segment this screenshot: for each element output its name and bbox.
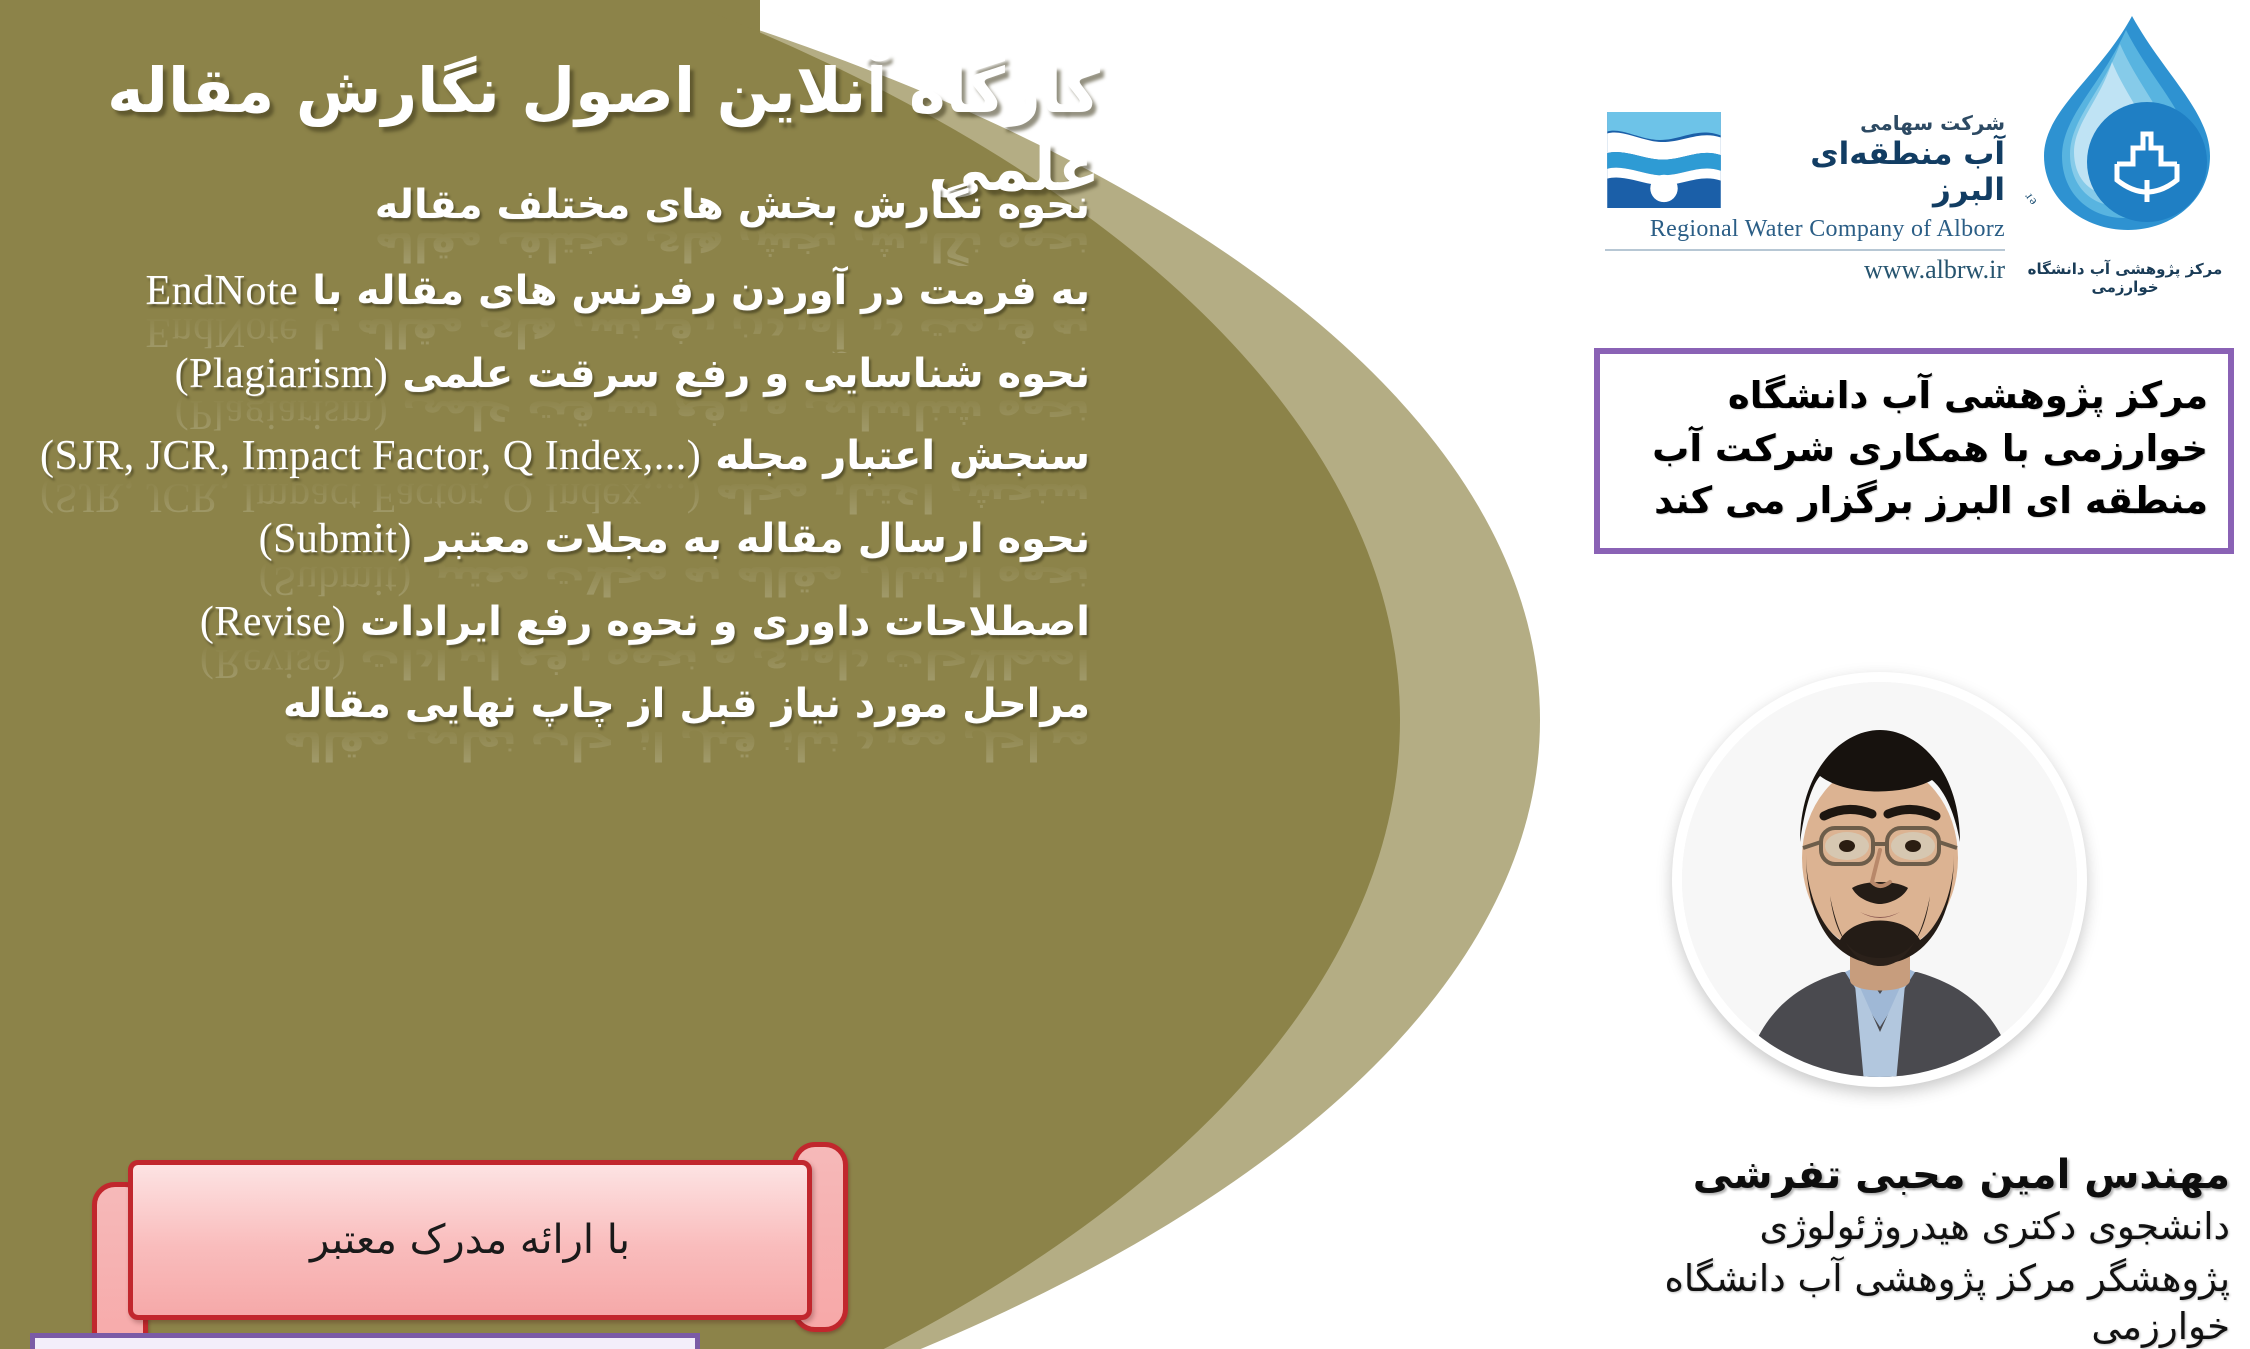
alborz-logo-english-line: Regional Water Company of Alborz [1605, 216, 2005, 243]
speaker-portrait [1672, 672, 2087, 1087]
list-item: مراحل مورد نیاز قبل از چاپ نهایی مقاله م… [30, 684, 1090, 725]
speaker-affiliation: پژوهشگر مرکز پژوهشی آب دانشگاه خوارزمی [1570, 1255, 2230, 1349]
topic-text: سنجش اعتبار مجله [715, 433, 1090, 479]
topic-text: نحوه نگارش بخش های مختلف مقاله [375, 182, 1090, 228]
text-reflection: به فرمت در آوردن رفرنس های مقاله با EndN… [30, 313, 1090, 353]
topics-list: نحوه نگارش بخش های مختلف مقاله نحوه نگار… [30, 185, 1090, 765]
topic-text: نحوه شناسایی و رفع سرقت علمی [402, 395, 1090, 435]
khwarazmi-water-research-center-logo: Khwarazmi Water Research Center مرکز پژو… [2010, 4, 2240, 296]
water-wave-logo-icon [1605, 110, 1723, 210]
left-content-column: کارگاه آنلاین اصول نگارش مقاله علمی نحوه… [0, 0, 1120, 1349]
poster-root: کارگاه آنلاین اصول نگارش مقاله علمی نحوه… [0, 0, 2250, 1349]
khwarazmi-arc-text: Khwarazmi Water Research Center [2014, 4, 2039, 209]
speaker-info: مهندس امین محبی تفرشی دانشجوی دکتری هیدر… [1570, 1152, 2230, 1349]
topic-text: مراحل مورد نیاز قبل از چاپ نهایی مقاله [283, 681, 1090, 727]
certificate-box: با ارائه مدرک معتبر [128, 1160, 812, 1320]
topic-text: اصطلاحات داوری و نحوه رفع ایرادات [360, 644, 1090, 684]
text-reflection: مراحل مورد نیاز قبل از چاپ نهایی مقاله [30, 725, 1090, 765]
topic-latin-term: (Revise) [200, 601, 346, 644]
alborz-water-company-logo: شرکت سهامی آب منطقه‌ای البرز [1605, 110, 2005, 285]
topic-latin-term: (Plagiarism) [175, 395, 389, 435]
topic-text: نحوه نگارش بخش های مختلف مقاله [375, 226, 1090, 266]
divider [1605, 249, 2005, 251]
topic-latin-term: (Revise) [200, 644, 346, 684]
topic-latin-term: EndNote [146, 313, 299, 353]
list-item: نحوه نگارش بخش های مختلف مقاله نحوه نگار… [30, 185, 1090, 226]
svg-text:Khwarazmi Water Research Cente: Khwarazmi Water Research Center [2014, 4, 2039, 209]
topic-text: اصطلاحات داوری و نحوه رفع ایرادات [360, 599, 1090, 645]
announcement-line: خوارزمی با همکاری شرکت آب [1620, 423, 2208, 476]
certificate-note: با ارائه مدرک معتبر [310, 1217, 630, 1263]
announcement-line: مرکز پژوهشی آب دانشگاه [1620, 370, 2208, 423]
text-reflection: نحوه شناسایی و رفع سرقت علمی (Plagiarism… [30, 395, 1090, 435]
topic-text: نحوه ارسال مقاله به مجلات معتبر [426, 561, 1090, 601]
topic-latin-term: (Submit) [259, 518, 412, 561]
right-content-column: شرکت سهامی آب منطقه‌ای البرز [1550, 0, 2250, 1349]
list-item: سنجش اعتبار مجله (SJR, JCR, Impact Facto… [30, 435, 1090, 478]
list-item: نحوه شناسایی و رفع سرقت علمی (Plagiarism… [30, 353, 1090, 396]
alborz-website-url[interactable]: www.albrw.ir [1605, 255, 2005, 285]
speaker-name: مهندس امین محبی تفرشی [1570, 1152, 2230, 1199]
list-item: به فرمت در آوردن رفرنس های مقاله با EndN… [30, 270, 1090, 313]
khwarazmi-logo-caption: مرکز پژوهشی آب دانشگاه خوارزمی [2010, 260, 2240, 296]
topic-latin-term: (Submit) [259, 561, 412, 601]
speaker-degree: دانشجوی دکتری هیدروژئولوژی [1570, 1203, 2230, 1251]
bottom-purple-panel-cutoff [30, 1333, 700, 1349]
alborz-logo-small-line: شرکت سهامی [1737, 112, 2005, 135]
topic-latin-term: (SJR, JCR, Impact Factor, Q Index,...) [40, 478, 701, 518]
topic-latin-term: (Plagiarism) [175, 353, 389, 396]
speaker-photo-illustration [1682, 682, 2077, 1077]
topic-text: به فرمت در آوردن رفرنس های مقاله با [312, 313, 1090, 353]
topic-latin-term: (SJR, JCR, Impact Factor, Q Index,...) [40, 435, 701, 478]
topic-latin-term: EndNote [146, 270, 299, 313]
list-item: اصطلاحات داوری و نحوه رفع ایرادات (Revis… [30, 601, 1090, 644]
certificate-banner: با ارائه مدرک معتبر [110, 1160, 830, 1335]
text-reflection: نحوه ارسال مقاله به مجلات معتبر (Submit) [30, 561, 1090, 601]
list-item: نحوه ارسال مقاله به مجلات معتبر (Submit)… [30, 518, 1090, 561]
water-droplet-logo-icon: Khwarazmi Water Research Center [2014, 4, 2236, 254]
text-reflection: نحوه نگارش بخش های مختلف مقاله [30, 226, 1090, 266]
topic-text: نحوه ارسال مقاله به مجلات معتبر [426, 516, 1090, 562]
topic-text: سنجش اعتبار مجله [715, 478, 1090, 518]
text-reflection: سنجش اعتبار مجله (SJR, JCR, Impact Facto… [30, 478, 1090, 518]
alborz-logo-main-line: آب منطقه‌ای البرز [1737, 137, 2005, 208]
topic-text: نحوه شناسایی و رفع سرقت علمی [402, 351, 1090, 397]
topic-text: به فرمت در آوردن رفرنس های مقاله با [312, 268, 1090, 314]
speaker-portrait-image [1682, 682, 2077, 1077]
announcement-box: مرکز پژوهشی آب دانشگاه خوارزمی با همکاری… [1594, 348, 2234, 554]
text-reflection: اصطلاحات داوری و نحوه رفع ایرادات (Revis… [30, 644, 1090, 684]
topic-text: مراحل مورد نیاز قبل از چاپ نهایی مقاله [283, 725, 1090, 765]
announcement-line: منطقه ای البرز برگزار می کند [1620, 475, 2208, 528]
